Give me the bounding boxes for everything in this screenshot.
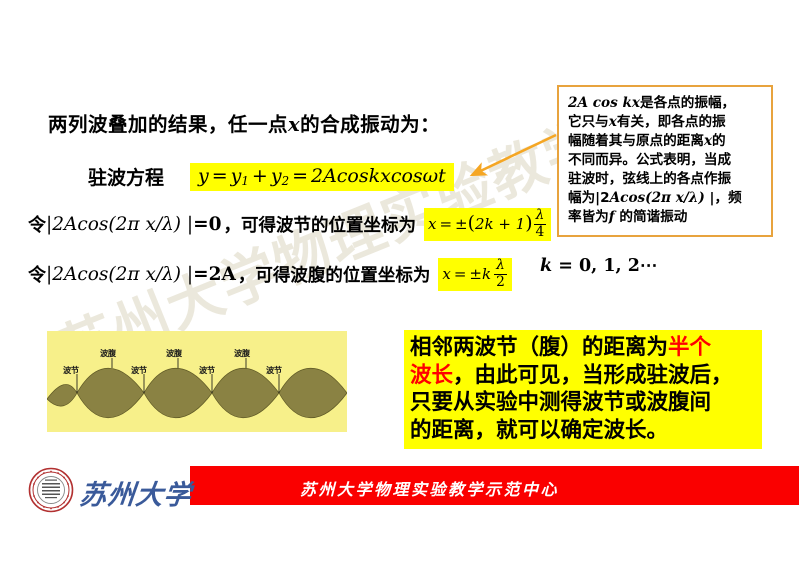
conclusion-line2-highlight: 波长 <box>410 363 453 388</box>
callout-line-2: 它只与x有关，即各点的振 <box>568 113 763 132</box>
wave-svg <box>47 331 347 432</box>
equation-label: 驻波方程 <box>88 163 164 190</box>
antinode-condition-value: =2A <box>193 264 236 285</box>
formula-plus: + <box>249 165 271 187</box>
callout-line2-post: 有关，即各点的振 <box>617 114 726 130</box>
page-headline: 两列波叠加的结果，任一点x的合成振动为： <box>48 108 440 137</box>
node-condition-lead: 令 <box>28 211 46 237</box>
node-formula-equals: = <box>436 217 455 232</box>
wave-label-antinode-3: 波腹 <box>234 347 250 359</box>
wave-lobes <box>47 368 347 418</box>
callout-line-1: 2A cos kx是各点的振幅， <box>568 94 763 113</box>
conclusion-line-3: 只要从实验中测得波节或波腹间 <box>410 389 757 417</box>
wave-label-node-2: 波节 <box>131 364 147 376</box>
headline-variable: x <box>288 113 300 136</box>
antinode-position-formula: x = ± k λ 2 <box>438 258 512 291</box>
callout-arrow-icon <box>455 125 570 185</box>
node-formula-lhs: x <box>428 217 436 232</box>
conclusion-line1-pre: 相邻两波节（腹）的距离为 <box>410 335 668 360</box>
formula-y1-subscript: 1 <box>241 174 249 188</box>
headline-pre: 两列波叠加的结果，任一点 <box>48 113 288 136</box>
k-values-rest: = 0, 1, 2⋯ <box>552 256 657 276</box>
k-values-note: k = 0, 1, 2⋯ <box>540 256 657 276</box>
antinode-condition-lead: 令 <box>28 261 46 287</box>
node-formula-fraction: λ 4 <box>534 209 547 240</box>
wave-label-node-1: 波节 <box>63 364 79 376</box>
callout-line1-text: 是各点的振幅， <box>640 95 735 111</box>
node-condition-value: =0 <box>193 214 221 235</box>
formula-rhs: 2Acoskxcosωt <box>311 165 446 187</box>
callout-line-7: 率皆为f 的简谐振动 <box>568 208 763 227</box>
university-name: 苏州大学 <box>78 473 194 512</box>
antinode-formula-lhs: x <box>442 267 450 282</box>
node-formula-inner: 2k + 1 <box>475 217 525 232</box>
formula-y2: y <box>271 165 282 187</box>
antinode-formula-pm: ± <box>469 267 482 282</box>
callout-line-3: 幅随着其与原点的距离x的 <box>568 132 763 151</box>
formula-y: y <box>198 165 209 187</box>
callout-line-4: 不同而异。公式表明，当成 <box>568 151 763 170</box>
headline-post: 的合成振动为： <box>300 113 440 136</box>
node-formula-paren-close: ) <box>525 215 532 234</box>
formula-y2-subscript: 2 <box>282 174 290 188</box>
conclusion-line2-post: ，由此可见，当形成驻波后， <box>453 363 733 388</box>
antinode-formula-k: k <box>482 267 491 282</box>
antinode-condition-tail: ，可得波腹的位置坐标为 <box>238 262 431 287</box>
standing-wave-formula: y=y1+y2=2Acoskxcosωt <box>190 163 454 191</box>
antinode-condition-math: |2Acos(2π x/λ) | <box>46 264 193 285</box>
callout-line3-post: 的 <box>712 133 726 149</box>
antinode-formula-fraction: λ 2 <box>494 259 507 290</box>
standing-wave-diagram: 波节 波腹 波节 波腹 波节 波腹 波节 <box>47 331 347 432</box>
formula-equals-1: = <box>209 165 231 187</box>
wave-label-antinode-1: 波腹 <box>100 347 116 359</box>
node-condition-tail: ，可得波节的位置坐标为 <box>223 212 416 237</box>
conclusion-line-1: 相邻两波节（腹）的距离为半个 <box>410 334 757 362</box>
standing-wave-equation-row: 驻波方程 y=y1+y2=2Acoskxcosωt <box>88 163 454 191</box>
node-condition-line: 令 |2Acos(2π x/λ) | =0 ，可得波节的位置坐标为 x = ± … <box>28 208 551 241</box>
conclusion-line-4: 的距离，就可以确定波长。 <box>410 417 757 445</box>
antinode-formula-numerator: λ <box>494 259 507 275</box>
callout-line2-pre: 它只与 <box>568 114 609 130</box>
antinode-formula-equals: = <box>451 267 470 282</box>
slide-canvas: 苏州大学物理实验教学 两列波叠加的结果，任一点x的合成振动为： 驻波方程 y=y… <box>0 0 799 565</box>
callout-line7-pre: 率皆为 <box>568 209 609 225</box>
callout-line6-post: |，频 <box>705 190 742 206</box>
node-formula-pm: ± <box>455 217 468 232</box>
callout-line6-math: Acos(2π x/λ) <box>610 190 705 206</box>
callout-line1-math: 2A cos kx <box>568 95 640 111</box>
wave-label-node-3: 波节 <box>199 364 215 376</box>
conclusion-line-2: 波长，由此可见，当形成驻波后， <box>410 362 757 390</box>
node-formula-paren-open: ( <box>468 215 475 234</box>
callout-line7-post: 的简谐振动 <box>615 209 688 225</box>
university-seal-icon <box>28 467 74 513</box>
conclusion-text-block: 相邻两波节（腹）的距离为半个 波长，由此可见，当形成驻波后， 只要从实验中测得波… <box>404 330 762 449</box>
conclusion-line1-highlight: 半个 <box>668 335 711 360</box>
antinode-formula-denominator: 2 <box>494 275 507 290</box>
k-symbol: k <box>540 256 552 276</box>
callout-line-6: 幅为|2Acos(2π x/λ) |，频 <box>568 189 763 208</box>
wave-label-antinode-2: 波腹 <box>166 347 182 359</box>
wave-label-node-4: 波节 <box>266 364 282 376</box>
footer-title: 苏州大学物理实验教学示范中心 <box>300 476 559 500</box>
callout-line6-pre: 幅为|2 <box>568 190 610 206</box>
node-position-formula: x = ± ( 2k + 1 ) λ 4 <box>424 208 551 241</box>
callout-line-5: 驻波时，弦线上的各点作振 <box>568 170 763 189</box>
callout-line3-var: x <box>704 133 712 149</box>
callout-line3-pre: 幅随着其与原点的距离 <box>568 133 704 149</box>
node-formula-numerator: λ <box>534 209 547 225</box>
formula-equals-2: = <box>289 165 311 187</box>
node-formula-denominator: 4 <box>534 225 547 240</box>
callout-line2-var: x <box>609 114 617 130</box>
amplitude-explanation-callout: 2A cos kx是各点的振幅， 它只与x有关，即各点的振 幅随着其与原点的距离… <box>557 85 773 237</box>
formula-y1: y <box>231 165 242 187</box>
antinode-condition-line: 令 |2Acos(2π x/λ) | =2A ，可得波腹的位置坐标为 x = ±… <box>28 258 512 291</box>
node-condition-math: |2Acos(2π x/λ) | <box>46 214 193 235</box>
